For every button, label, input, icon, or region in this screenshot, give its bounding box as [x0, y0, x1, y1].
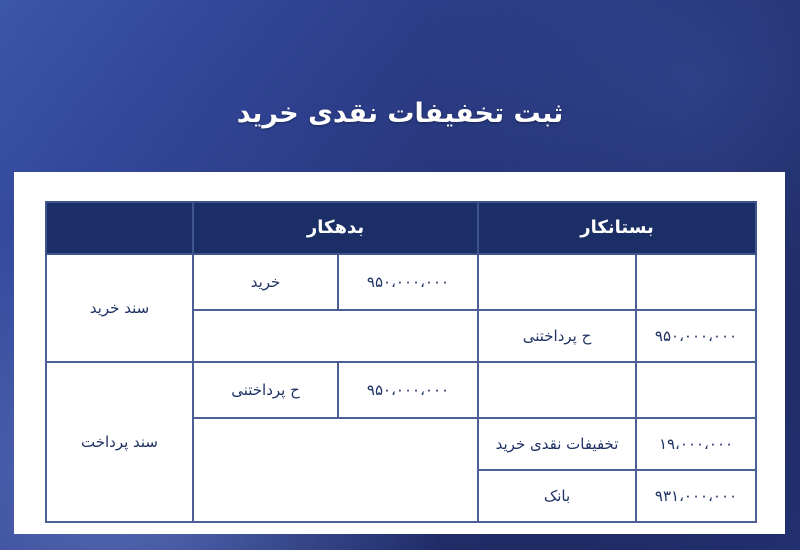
slide-canvas: ثبت تخفیفات نقدی خرید بستانکار بدهکار ۹۵…	[0, 0, 800, 550]
cell-credit-account: تخفیفات نقدی خرید	[478, 418, 636, 470]
column-header-document	[46, 202, 193, 254]
cell-debit-empty	[193, 418, 478, 522]
table-header: بستانکار بدهکار	[46, 202, 756, 254]
cell-document-purchase: سند خرید	[46, 254, 193, 362]
cell-credit-account	[478, 362, 636, 418]
cell-document-payment: سند پرداخت	[46, 362, 193, 522]
cell-debit-account: ح پرداختنی	[193, 362, 338, 418]
table-header-row: بستانکار بدهکار	[46, 202, 756, 254]
cell-credit-account: بانک	[478, 470, 636, 522]
page-title: ثبت تخفیفات نقدی خرید	[0, 98, 800, 129]
cell-debit-amount: ۹۵۰،۰۰۰،۰۰۰	[338, 362, 478, 418]
table-body: ۹۵۰،۰۰۰،۰۰۰ خرید سند خرید ۹۵۰،۰۰۰،۰۰۰ ح …	[46, 254, 756, 522]
cell-credit-amount: ۹۳۱،۰۰۰،۰۰۰	[636, 470, 756, 522]
cell-credit-account	[478, 254, 636, 310]
cell-debit-amount: ۹۵۰،۰۰۰،۰۰۰	[338, 254, 478, 310]
cell-debit-account: خرید	[193, 254, 338, 310]
journal-entry-table: بستانکار بدهکار ۹۵۰،۰۰۰،۰۰۰ خرید سند خری…	[45, 201, 757, 523]
cell-credit-amount: ۱۹،۰۰۰،۰۰۰	[636, 418, 756, 470]
content-card: بستانکار بدهکار ۹۵۰،۰۰۰،۰۰۰ خرید سند خری…	[14, 172, 785, 534]
table-row: ۹۵۰،۰۰۰،۰۰۰ ح پرداختنی سند پرداخت	[46, 362, 756, 418]
cell-credit-account: ح پرداختنی	[478, 310, 636, 362]
cell-credit-amount: ۹۵۰،۰۰۰،۰۰۰	[636, 310, 756, 362]
table-row: ۹۵۰،۰۰۰،۰۰۰ خرید سند خرید	[46, 254, 756, 310]
column-header-credit: بستانکار	[478, 202, 756, 254]
column-header-debit: بدهکار	[193, 202, 478, 254]
cell-debit-empty	[193, 310, 478, 362]
cell-credit-amount	[636, 254, 756, 310]
cell-credit-amount	[636, 362, 756, 418]
